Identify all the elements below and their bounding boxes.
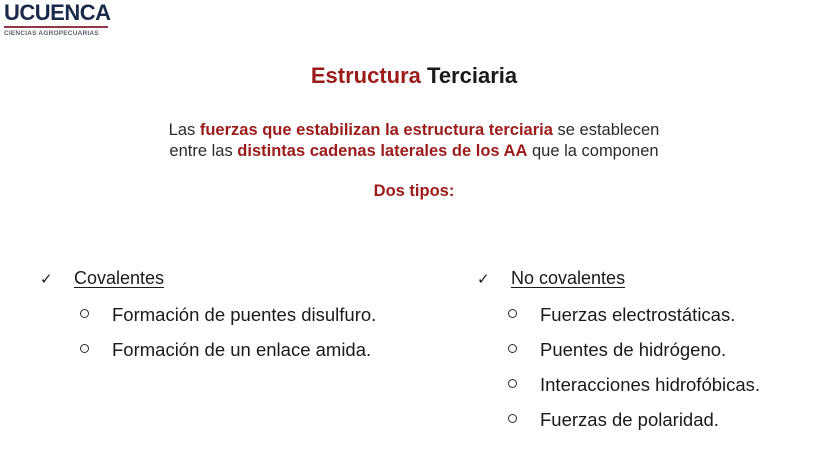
hollow-circle-bullet-icon: [508, 375, 540, 399]
column-item-list: Fuerzas electrostáticas. Puentes de hidr…: [477, 303, 822, 443]
lead-line-1: Las fuerzas que estabilizan la estructur…: [0, 120, 828, 141]
lead-line1-prefix: Las: [169, 121, 200, 139]
hollow-circle-bullet-icon: [80, 340, 112, 364]
lead-paragraph: Las fuerzas que estabilizan la estructur…: [0, 120, 828, 162]
list-item-label: Formación de puentes disulfuro.: [112, 303, 376, 327]
slide-title-rest: Terciaria: [421, 63, 517, 88]
checkmark-icon: ✓: [40, 268, 74, 292]
logo-subtitle: CIENCIAS AGROPECUARIAS: [4, 30, 112, 37]
list-item-label: Interacciones hidrofóbicas.: [540, 373, 760, 397]
checkmark-icon: ✓: [477, 268, 511, 292]
list-item-label: Formación de un enlace amida.: [112, 338, 371, 362]
lead-line1-suffix: se establecen: [553, 121, 659, 139]
ucuenca-logo: UCUENCA CIENCIAS AGROPECUARIAS: [4, 2, 112, 37]
slide-title: Estructura Terciaria: [0, 64, 828, 88]
list-item: Fuerzas electrostáticas.: [477, 303, 822, 338]
list-item: Formación de puentes disulfuro.: [40, 303, 460, 338]
slide-title-emphasis: Estructura: [311, 63, 421, 88]
column-no-covalentes: ✓ No covalentes Fuerzas electrostáticas.…: [477, 266, 822, 443]
lead-line-2: entre las distintas cadenas laterales de…: [0, 141, 828, 162]
lead-line2-prefix: entre las: [169, 142, 237, 160]
column-heading-label: No covalentes: [511, 266, 625, 290]
column-item-list: Formación de puentes disulfuro. Formació…: [40, 303, 460, 373]
logo-wordmark: UCUENCA: [4, 2, 112, 24]
list-item: Fuerzas de polaridad.: [477, 408, 822, 443]
list-item: Puentes de hidrógeno.: [477, 338, 822, 373]
hollow-circle-bullet-icon: [508, 340, 540, 364]
lead-line2-emphasis: distintas cadenas laterales de los AA: [237, 142, 527, 160]
column-heading-label: Covalentes: [74, 266, 164, 290]
list-item-label: Fuerzas electrostáticas.: [540, 303, 735, 327]
logo-divider-rule: [4, 26, 108, 28]
hollow-circle-bullet-icon: [80, 305, 112, 329]
column-heading-row: ✓ No covalentes: [477, 266, 822, 292]
list-item: Formación de un enlace amida.: [40, 338, 460, 373]
subheading-dos-tipos: Dos tipos:: [0, 182, 828, 201]
column-heading-row: ✓ Covalentes: [40, 266, 460, 292]
list-item-label: Fuerzas de polaridad.: [540, 408, 719, 432]
column-covalentes: ✓ Covalentes Formación de puentes disulf…: [40, 266, 460, 373]
lead-line2-suffix: que la componen: [527, 142, 658, 160]
hollow-circle-bullet-icon: [508, 305, 540, 329]
lead-line1-emphasis: fuerzas que estabilizan la estructura te…: [200, 121, 553, 139]
list-item: Interacciones hidrofóbicas.: [477, 373, 822, 408]
hollow-circle-bullet-icon: [508, 410, 540, 434]
list-item-label: Puentes de hidrógeno.: [540, 338, 726, 362]
